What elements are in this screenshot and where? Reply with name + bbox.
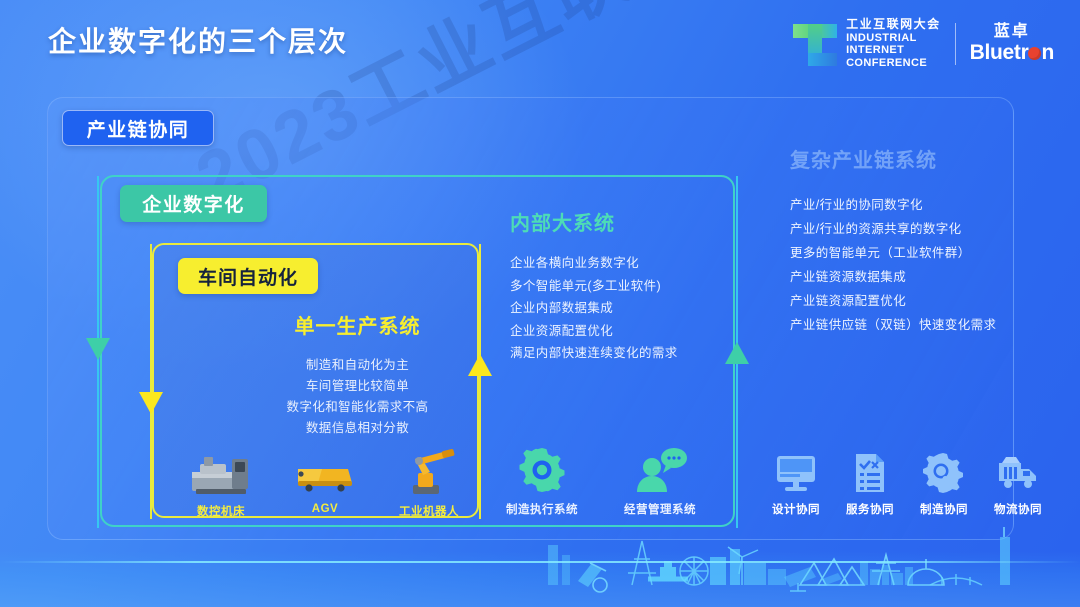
column-inner-heading: 单一生产系统 (250, 310, 465, 339)
bluetron-name-en: Bluetrn (970, 41, 1054, 64)
tag-enterprise-digital[interactable]: 企业数字化 (120, 185, 267, 222)
icon-cell-business-management[interactable]: 经营管理系统 (618, 443, 702, 517)
conference-name-en-1: INDUSTRIAL (846, 32, 941, 45)
icon-label-design-collaboration: 设计协同 (772, 501, 820, 517)
bluetron-name-en-after: n (1041, 41, 1054, 64)
gear-icon (517, 443, 567, 495)
icon-cell-logistics-collaboration[interactable]: 物流协同 (990, 443, 1046, 517)
column-inner-line: 车间管理比较简单 (250, 376, 465, 397)
column-right-line: 产业/行业的协同数字化 (790, 193, 1060, 217)
skyline-ground-line (0, 561, 1080, 563)
checklist-document-icon (848, 443, 892, 495)
logo-divider (955, 23, 956, 65)
icon-label-business-management: 经营管理系统 (624, 501, 696, 517)
column-right-line: 产业链供应链（双链）快速变化需求 (790, 313, 1060, 337)
icon-label-logistics-collaboration: 物流协同 (994, 501, 1042, 517)
column-internal-large-system: 内部大系统 企业各横向业务数字化 多个智能单元(多工业软件) 企业内部数据集成 … (510, 207, 740, 365)
icon-label-manufacturing-collaboration: 制造协同 (920, 501, 968, 517)
icon-cell-industrial-robot[interactable]: 工业机器人 (388, 445, 470, 519)
column-middle-line: 企业各横向业务数字化 (510, 252, 740, 275)
conference-logo-text: 工业互联网大会 INDUSTRIAL INTERNET CONFERENCE (846, 18, 941, 69)
icon-label-cnc-machine: 数控机床 (197, 503, 245, 519)
gear-magnifier-icon (922, 443, 966, 495)
column-right-line: 产业链资源数据集成 (790, 265, 1060, 289)
column-middle-line: 企业内部数据集成 (510, 297, 740, 320)
column-middle-line: 满足内部快速连续变化的需求 (510, 342, 740, 365)
person-chat-icon (632, 443, 688, 495)
conference-name-cn: 工业互联网大会 (846, 18, 941, 32)
bluetron-o-dot-icon (1028, 47, 1041, 60)
bluetron-name-cn: 蓝卓 (970, 23, 1054, 41)
column-middle-heading: 内部大系统 (510, 207, 740, 236)
icon-cell-manufacturing-collaboration[interactable]: 制造协同 (916, 443, 972, 517)
icon-cell-manufacturing-execution[interactable]: 制造执行系统 (500, 443, 584, 517)
agv-vehicle-icon (292, 445, 358, 497)
conference-name-en-3: CONFERENCE (846, 57, 941, 70)
slide-header: 企业数字化的三个层次 工业互联网大会 INDUSTRIAL INTERNET C… (0, 0, 1080, 90)
truck-icon (996, 443, 1040, 495)
cnc-machine-icon (188, 445, 254, 497)
column-right-line: 产业/行业的资源共享的数字化 (790, 217, 1060, 241)
icon-cell-service-collaboration[interactable]: 服务协同 (842, 443, 898, 517)
tag-industry-chain[interactable]: 产业链协同 (62, 110, 214, 146)
column-right-line: 产业链资源配置优化 (790, 289, 1060, 313)
icon-cell-design-collaboration[interactable]: 设计协同 (768, 443, 824, 517)
icon-cell-agv[interactable]: AGV (284, 445, 366, 519)
icon-label-service-collaboration: 服务协同 (846, 501, 894, 517)
logo-block: 工业互联网大会 INDUSTRIAL INTERNET CONFERENCE 蓝… (793, 18, 1054, 69)
skyline-ground-glow (0, 551, 1080, 607)
icon-row-internal-systems: 制造执行系统 经营管理系统 (500, 443, 702, 517)
tag-workshop-automation[interactable]: 车间自动化 (178, 258, 318, 294)
column-complex-chain-system: 复杂产业链系统 产业/行业的协同数字化 产业/行业的资源共享的数字化 更多的智能… (790, 144, 1060, 337)
monitor-icon (774, 443, 818, 495)
connector-teal-down-arrow (88, 176, 108, 528)
column-right-heading: 复杂产业链系统 (790, 144, 1060, 173)
slide-canvas: 2023工业互联网大会 企业数字化的三个层次 工业互联网大会 INDUSTRIA… (0, 0, 1080, 607)
column-inner-line: 数字化和智能化需求不高 (250, 397, 465, 418)
column-inner-line: 数据信息相对分散 (250, 418, 465, 439)
icon-label-manufacturing-execution: 制造执行系统 (506, 501, 578, 517)
icon-label-industrial-robot: 工业机器人 (399, 503, 459, 519)
column-right-line: 更多的智能单元（工业软件群） (790, 241, 1060, 265)
industrial-robot-icon (399, 445, 459, 497)
icon-cell-cnc-machine[interactable]: 数控机床 (180, 445, 262, 519)
column-single-production-system: 单一生产系统 制造和自动化为主 车间管理比较简单 数字化和智能化需求不高 数据信… (250, 310, 465, 439)
column-middle-line: 企业资源配置优化 (510, 320, 740, 343)
conference-name-en-2: INTERNET (846, 44, 941, 57)
connector-yellow-up-arrow (470, 244, 490, 519)
icon-row-chain-collaboration: 设计协同 服务协同 (768, 443, 1046, 517)
icon-label-agv: AGV (312, 503, 338, 515)
column-inner-line: 制造和自动化为主 (250, 355, 465, 376)
conference-mark-icon (793, 22, 837, 66)
conference-logo: 工业互联网大会 INDUSTRIAL INTERNET CONFERENCE (793, 18, 941, 69)
bluetron-logo: 蓝卓 Bluetrn (970, 23, 1054, 64)
icon-row-devices: 数控机床 AGV (180, 445, 470, 519)
bluetron-name-en-before: Bluetr (970, 41, 1029, 64)
connector-yellow-down-arrow (141, 244, 161, 519)
column-middle-line: 多个智能单元(多工业软件) (510, 275, 740, 298)
page-title: 企业数字化的三个层次 (48, 20, 348, 60)
